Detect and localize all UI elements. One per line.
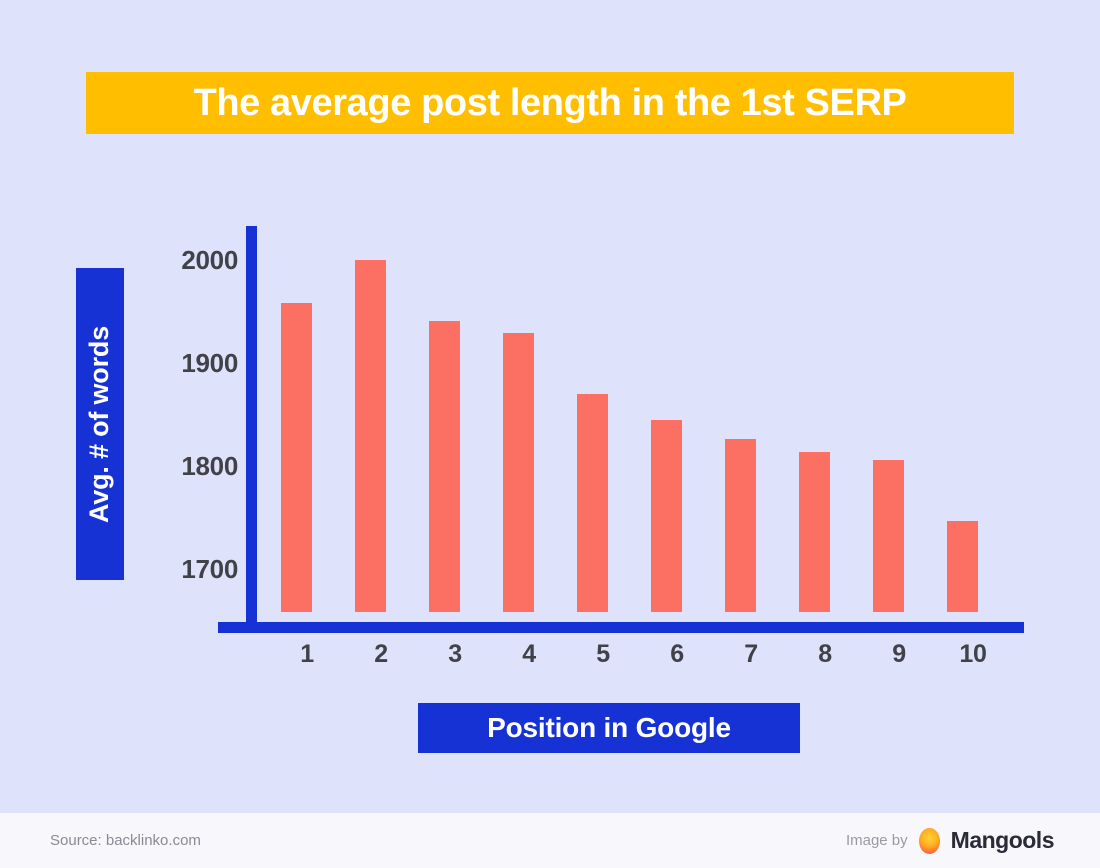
y-axis-tick-labels: 2000190018001700	[128, 0, 238, 800]
y-axis-label: Avg. # of words	[85, 325, 116, 522]
brand-name: Mangools	[951, 827, 1054, 854]
y-tick-label: 1900	[128, 348, 238, 379]
bar[interactable]	[503, 333, 534, 612]
x-tick-label: 6	[640, 640, 714, 669]
x-axis-line	[218, 622, 1024, 633]
x-axis-label: Position in Google	[487, 712, 731, 744]
bar-slot	[418, 226, 492, 612]
bar[interactable]	[355, 260, 386, 612]
bar[interactable]	[429, 321, 460, 612]
bar[interactable]	[281, 303, 312, 612]
image-by-label: Image by	[846, 832, 908, 849]
y-tick-label: 1800	[128, 451, 238, 482]
bar[interactable]	[799, 452, 830, 612]
bar[interactable]	[651, 420, 682, 612]
bar[interactable]	[873, 460, 904, 612]
bar-slot	[788, 226, 862, 612]
bar-slot	[714, 226, 788, 612]
bar[interactable]	[725, 439, 756, 612]
y-axis-label-box: Avg. # of words	[76, 268, 124, 580]
y-tick-label: 2000	[128, 245, 238, 276]
footer: Source: backlinko.com Image by Mangools	[0, 813, 1100, 868]
x-tick-label: 7	[714, 640, 788, 669]
x-tick-label: 4	[492, 640, 566, 669]
bar-slot	[492, 226, 566, 612]
y-axis-line	[246, 226, 257, 626]
bar-slot	[640, 226, 714, 612]
plot-area	[270, 226, 1020, 612]
x-tick-label: 8	[788, 640, 862, 669]
bar-slot	[270, 226, 344, 612]
x-tick-label: 1	[270, 640, 344, 669]
source-credit: Source: backlinko.com	[50, 832, 201, 849]
x-tick-label: 9	[862, 640, 936, 669]
bar[interactable]	[947, 521, 978, 612]
x-tick-label: 3	[418, 640, 492, 669]
x-tick-label: 10	[936, 640, 1010, 669]
y-tick-label: 1700	[128, 554, 238, 585]
x-tick-label: 2	[344, 640, 418, 669]
bar-slot	[566, 226, 640, 612]
mangools-egg-icon	[919, 828, 940, 854]
x-tick-label: 5	[566, 640, 640, 669]
bar[interactable]	[577, 394, 608, 612]
brand-credit: Image by Mangools	[846, 827, 1054, 854]
bar-slot	[936, 226, 1010, 612]
bar-slot	[862, 226, 936, 612]
x-axis-tick-labels: 12345678910	[270, 640, 1020, 680]
bar-chart: Avg. # of words 2000190018001700 1234567…	[0, 0, 1100, 800]
x-axis-label-box: Position in Google	[418, 703, 800, 753]
bar-slot	[344, 226, 418, 612]
